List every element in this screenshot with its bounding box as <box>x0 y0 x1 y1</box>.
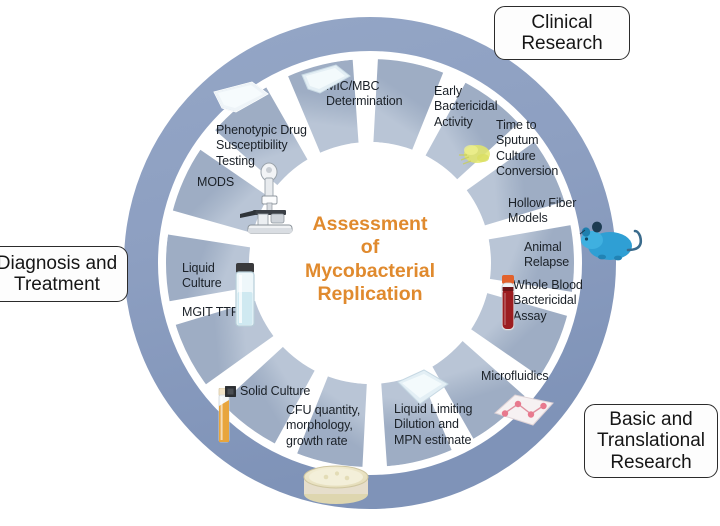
segment-label-liquid-limiting: Liquid Limiting Dilution and MPN estimat… <box>394 402 486 448</box>
microplate-icon <box>394 368 452 408</box>
segment-label-early-bactericidal: Early Bactericidal Activity <box>434 84 504 130</box>
segment-label-whole-blood: Whole Blood Bactericidal Assay <box>513 278 593 324</box>
segment-label-time-to-sputum: Time to Sputum Culture Conversion <box>496 118 566 179</box>
callout-diagnosis-treatment: Diagnosis and Treatment <box>0 246 128 302</box>
sputum-sample-icon <box>455 138 497 170</box>
microplate-icon <box>212 78 270 116</box>
culture-vial-icon <box>232 262 258 328</box>
solid-culture-marker-icon <box>225 386 236 397</box>
center-title: Assessment of Mycobacterial Replication <box>286 213 454 307</box>
petri-dish-icon <box>299 462 373 506</box>
microplate-icon <box>300 62 352 96</box>
diagram-canvas: Assessment of Mycobacterial Replication … <box>0 0 720 526</box>
segment-label-cfu: CFU quantity, morphology, growth rate <box>286 403 376 449</box>
laboratory-mouse-icon <box>578 216 650 268</box>
segment-label-animal-relapse: Animal Relapse <box>524 240 586 271</box>
segment-label-solid-culture: Solid Culture <box>240 384 326 399</box>
segment-label-mods: MODS <box>197 175 241 190</box>
callout-basic-translational: Basic and Translational Research <box>584 404 718 478</box>
microscope-icon <box>238 158 300 236</box>
callout-clinical-research: Clinical Research <box>494 6 630 60</box>
blood-collection-tube-icon <box>499 275 517 331</box>
segment-label-microfluidics: Microfluidics <box>481 369 573 384</box>
microfluidic-chip-icon <box>491 389 557 431</box>
